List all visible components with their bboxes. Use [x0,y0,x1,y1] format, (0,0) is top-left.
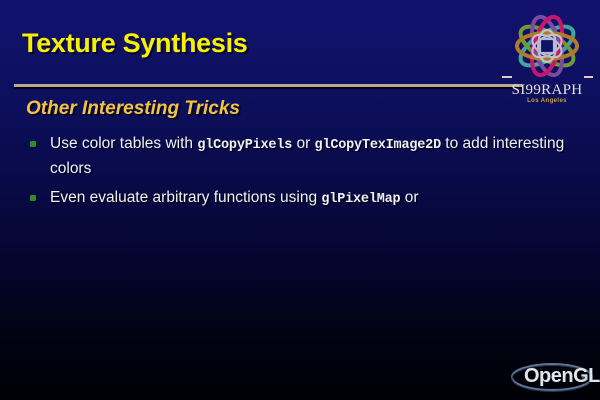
bullet-segment-text: Use color tables with [50,135,197,152]
square-bullet-icon [30,195,36,201]
opengl-logo: OpenGL ® [508,360,596,394]
list-item: Even evaluate arbitrary functions using … [26,186,586,211]
opengl-wordmark: OpenGL [524,365,600,388]
slide-subtitle: Other Interesting Tricks [26,98,240,120]
siggraph-wordmark: SI99RAPH [498,82,596,99]
siggraph-city-label: Los Angeles [498,98,596,104]
siggraph-rings-icon [498,8,596,88]
title-divider [14,84,522,87]
bullet-text: Use color tables with glCopyPixels or gl… [50,135,564,177]
gl-function-name: glCopyPixels [197,138,292,153]
square-bullet-icon [30,141,36,147]
page-title: Texture Synthesis [22,28,247,59]
gl-function-name: glCopyTexImage2D [315,138,441,153]
bullet-text: Even evaluate arbitrary functions using … [50,189,419,206]
bullet-segment-text: or [400,189,418,206]
bullet-segment-text: or [292,135,314,152]
bullet-segment-text: Even evaluate arbitrary functions using [50,189,321,206]
list-item: Use color tables with glCopyPixels or gl… [26,132,586,180]
slide-canvas: Texture Synthesis Other Interesting Tric… [0,0,600,400]
gl-function-name: glPixelMap [321,192,400,207]
siggraph-logo: SI99RAPH Los Angeles [498,8,596,106]
registered-trademark-icon: ® [582,376,587,383]
bullet-list: Use color tables with glCopyPixels or gl… [26,132,586,217]
